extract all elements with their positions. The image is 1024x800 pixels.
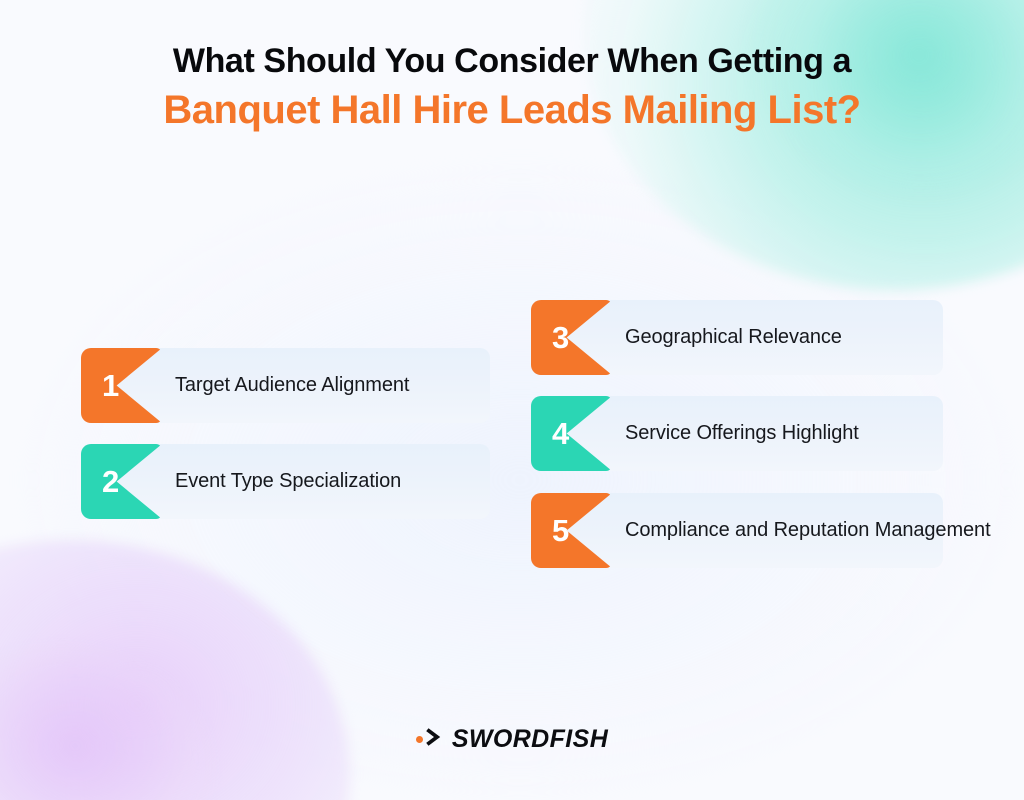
list-item-label: Target Audience Alignment [162, 348, 425, 423]
infographic-canvas: What Should You Consider When Getting a … [0, 0, 1024, 800]
list-item-number: 1 [102, 370, 119, 401]
title-line-highlight: Banquet Hall Hire Leads Mailing List? [0, 86, 1024, 134]
list-item-number: 4 [552, 418, 569, 449]
title-line-primary: What Should You Consider When Getting a [0, 42, 1024, 80]
dot-icon [416, 736, 423, 743]
list-item-label: Geographical Relevance [612, 300, 858, 375]
list-item-number: 5 [552, 515, 569, 546]
logo-mark [416, 726, 443, 753]
brand-name: SWORDFISH [452, 727, 608, 752]
list-item-number: 2 [102, 466, 119, 497]
list-item[interactable]: 1 Target Audience Alignment [81, 348, 425, 423]
list-item-label: Event Type Specialization [162, 444, 417, 519]
list-item[interactable]: 5 Compliance and Reputation Management [531, 493, 1007, 568]
list-item-label: Compliance and Reputation Management [612, 493, 1007, 568]
list-item[interactable]: 4 Service Offerings Highlight [531, 396, 875, 471]
brand-logo[interactable]: SWORDFISH [0, 726, 1024, 753]
list-item-label: Service Offerings Highlight [612, 396, 875, 471]
list-item-number: 3 [552, 322, 569, 353]
page-title: What Should You Consider When Getting a … [0, 42, 1024, 134]
list-item[interactable]: 2 Event Type Specialization [81, 444, 417, 519]
list-item[interactable]: 3 Geographical Relevance [531, 300, 858, 375]
chevron-right-icon [426, 726, 443, 753]
